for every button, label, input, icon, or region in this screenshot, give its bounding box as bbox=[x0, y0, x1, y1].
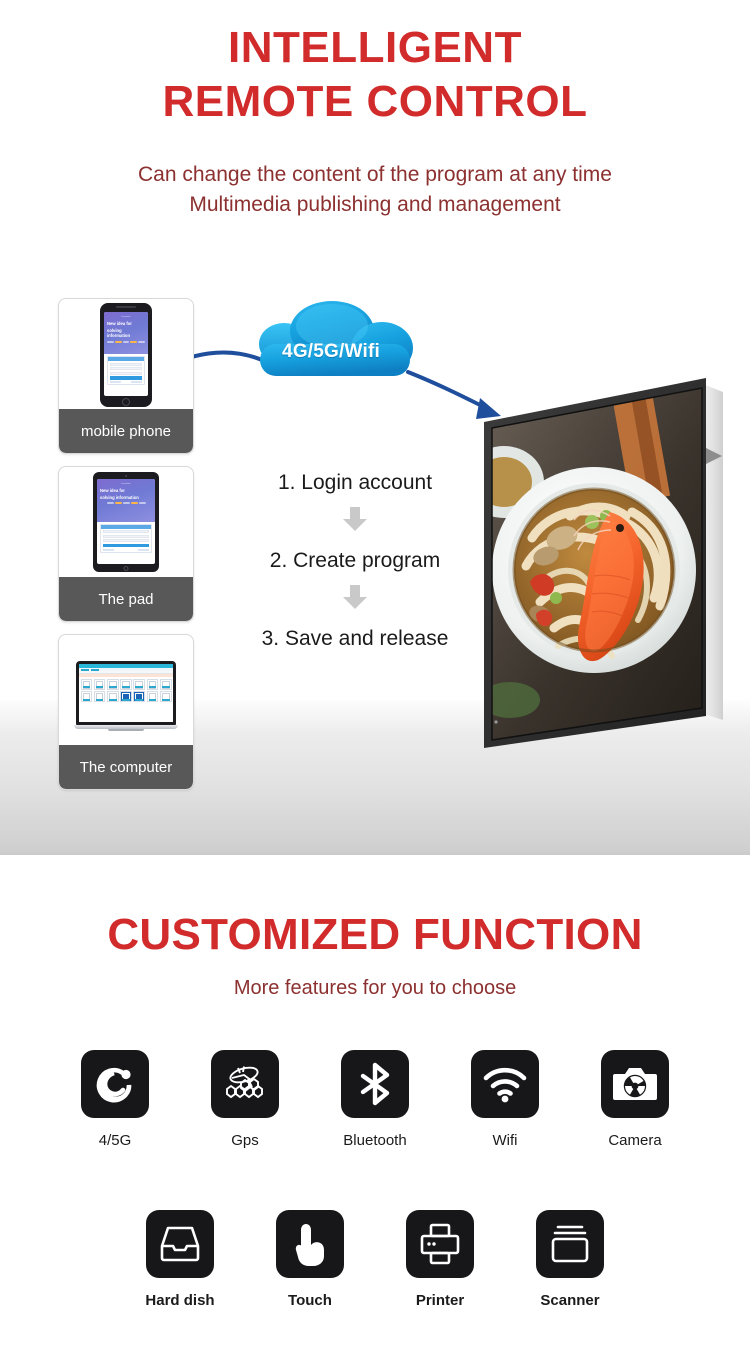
wifi-icon bbox=[482, 1065, 528, 1103]
feature-4-5g[interactable]: 4/5G bbox=[78, 1050, 153, 1149]
feature-wifi[interactable]: Wifi bbox=[468, 1050, 543, 1149]
section1-title: INTELLIGENT REMOTE CONTROL bbox=[0, 26, 750, 124]
feature-label: Camera bbox=[608, 1132, 661, 1149]
laptop-body bbox=[74, 661, 178, 731]
feature-tile bbox=[341, 1050, 409, 1118]
arrow-down-icon bbox=[342, 506, 368, 532]
feature-touch[interactable]: Touch bbox=[273, 1210, 348, 1309]
tablet-username-field bbox=[103, 530, 149, 533]
section2-title: CUSTOMIZED FUNCTION bbox=[0, 910, 750, 960]
tablet-home-button bbox=[124, 566, 129, 571]
feature-tile bbox=[601, 1050, 669, 1118]
hard-disk-tray-icon bbox=[158, 1224, 202, 1264]
laptop-lid bbox=[76, 661, 176, 725]
laptop-screen bbox=[79, 664, 173, 722]
phone-headline-2: solving information bbox=[107, 328, 145, 339]
tablet-signin-button bbox=[103, 544, 149, 548]
feature-hard-disk[interactable]: Hard dish bbox=[143, 1210, 218, 1309]
mobile-phone-illustration: Innovative New idea for solving informat… bbox=[59, 299, 193, 411]
feature-tile bbox=[81, 1050, 149, 1118]
phone-username-field bbox=[110, 363, 142, 366]
phone-headline-1: New idea for bbox=[107, 321, 145, 326]
scanner-icon bbox=[549, 1223, 591, 1265]
workflow-step-1: 1. Login account bbox=[210, 470, 500, 495]
feature-label: 4/5G bbox=[99, 1132, 132, 1149]
display-screen-content bbox=[470, 376, 715, 748]
device-caption: The computer bbox=[59, 745, 193, 789]
feature-tile bbox=[536, 1210, 604, 1278]
camera-icon bbox=[612, 1065, 658, 1103]
tablet-hero: Innovative New idea for solving informat… bbox=[97, 479, 155, 522]
tablet-links bbox=[103, 549, 149, 551]
device-card-mobile-phone[interactable]: Innovative New idea for solving informat… bbox=[58, 298, 194, 454]
section1-subtitle-line2: Multimedia publishing and management bbox=[0, 190, 750, 220]
feature-gps[interactable]: Gps bbox=[208, 1050, 283, 1149]
workflow-step-2: 2. Create program bbox=[210, 548, 500, 573]
section1-title-line2: REMOTE CONTROL bbox=[0, 80, 750, 124]
tablet-login-card-header bbox=[101, 525, 151, 529]
tablet-captcha-field bbox=[103, 539, 149, 542]
tablet-body: Innovative New idea for solving informat… bbox=[93, 472, 159, 572]
pointing-hand-icon bbox=[292, 1221, 328, 1267]
device-caption: mobile phone bbox=[59, 409, 193, 453]
tablet-eyebrow: Innovative bbox=[100, 483, 152, 486]
laptop-foot bbox=[108, 729, 144, 731]
feature-label: Hard dish bbox=[145, 1292, 214, 1309]
phone-password-field bbox=[110, 367, 142, 370]
product-feature-page: INTELLIGENT REMOTE CONTROL Can change th… bbox=[0, 0, 750, 1360]
signal-spiral-icon bbox=[93, 1062, 137, 1106]
phone-signin-button bbox=[110, 376, 142, 380]
workflow-steps: 1. Login account 2. Create program 3. Sa… bbox=[210, 470, 500, 652]
phone-body: Innovative New idea for solving informat… bbox=[100, 303, 152, 407]
remote-control-section: INTELLIGENT REMOTE CONTROL Can change th… bbox=[0, 0, 750, 855]
feature-bluetooth[interactable]: Bluetooth bbox=[338, 1050, 413, 1149]
feature-label: Wifi bbox=[493, 1132, 518, 1149]
tablet-password-field bbox=[103, 535, 149, 538]
phone-stats bbox=[107, 341, 145, 343]
feature-tile bbox=[146, 1210, 214, 1278]
section2-subtitle: More features for you to choose bbox=[0, 977, 750, 1000]
cloud-label: 4G/5G/Wifi bbox=[232, 341, 430, 363]
feature-tile bbox=[471, 1050, 539, 1118]
device-card-computer[interactable]: The computer bbox=[58, 634, 194, 790]
phone-home-button bbox=[122, 398, 130, 406]
feature-tile bbox=[276, 1210, 344, 1278]
feature-scanner[interactable]: Scanner bbox=[533, 1210, 608, 1309]
satellite-dish-icon bbox=[222, 1062, 268, 1106]
network-cloud: 4G/5G/Wifi bbox=[232, 300, 430, 396]
tablet-headline-2: solving information bbox=[100, 495, 152, 500]
section1-subtitle: Can change the content of the program at… bbox=[0, 160, 750, 221]
phone-eyebrow: Innovative bbox=[107, 316, 145, 319]
device-caption: The pad bbox=[59, 577, 193, 621]
feature-icons-row-2: Hard dish Touch bbox=[0, 1210, 750, 1309]
phone-login-card bbox=[107, 356, 145, 385]
tablet-headline-1: New idea for bbox=[100, 488, 152, 493]
phone-speaker bbox=[116, 306, 136, 308]
customized-function-section: CUSTOMIZED FUNCTION More features for yo… bbox=[0, 855, 750, 1360]
tablet-login-card bbox=[100, 524, 152, 553]
tablet-stats bbox=[100, 502, 152, 504]
section1-title-line1: INTELLIGENT bbox=[228, 23, 522, 72]
phone-captcha-field bbox=[110, 372, 142, 375]
feature-label: Touch bbox=[288, 1292, 332, 1309]
phone-links bbox=[110, 381, 142, 383]
phone-screen: Innovative New idea for solving informat… bbox=[104, 312, 148, 396]
workflow-step-3: 3. Save and release bbox=[210, 626, 500, 651]
bluetooth-icon bbox=[355, 1062, 395, 1106]
feature-tile bbox=[406, 1210, 474, 1278]
laptop-illustration bbox=[59, 635, 193, 747]
tablet-camera bbox=[125, 475, 127, 477]
feature-tile bbox=[211, 1050, 279, 1118]
tablet-illustration: Innovative New idea for solving informat… bbox=[59, 467, 193, 579]
feature-printer[interactable]: Printer bbox=[403, 1210, 478, 1309]
feature-label: Scanner bbox=[540, 1292, 599, 1309]
arrow-down-icon bbox=[342, 584, 368, 610]
tablet-screen: Innovative New idea for solving informat… bbox=[97, 479, 155, 564]
feature-label: Gps bbox=[231, 1132, 259, 1149]
feature-label: Printer bbox=[416, 1292, 464, 1309]
device-card-pad[interactable]: Innovative New idea for solving informat… bbox=[58, 466, 194, 622]
feature-label: Bluetooth bbox=[343, 1132, 406, 1149]
laptop-app-grid bbox=[79, 677, 173, 704]
section1-subtitle-line1: Can change the content of the program at… bbox=[0, 160, 750, 190]
phone-login-card-header bbox=[108, 357, 144, 361]
feature-icons-row-1: 4/5G bbox=[0, 1050, 750, 1149]
feature-camera[interactable]: Camera bbox=[598, 1050, 673, 1149]
phone-hero: Innovative New idea for solving informat… bbox=[104, 312, 148, 354]
printer-icon bbox=[418, 1223, 462, 1265]
digital-signage-display bbox=[470, 370, 735, 760]
